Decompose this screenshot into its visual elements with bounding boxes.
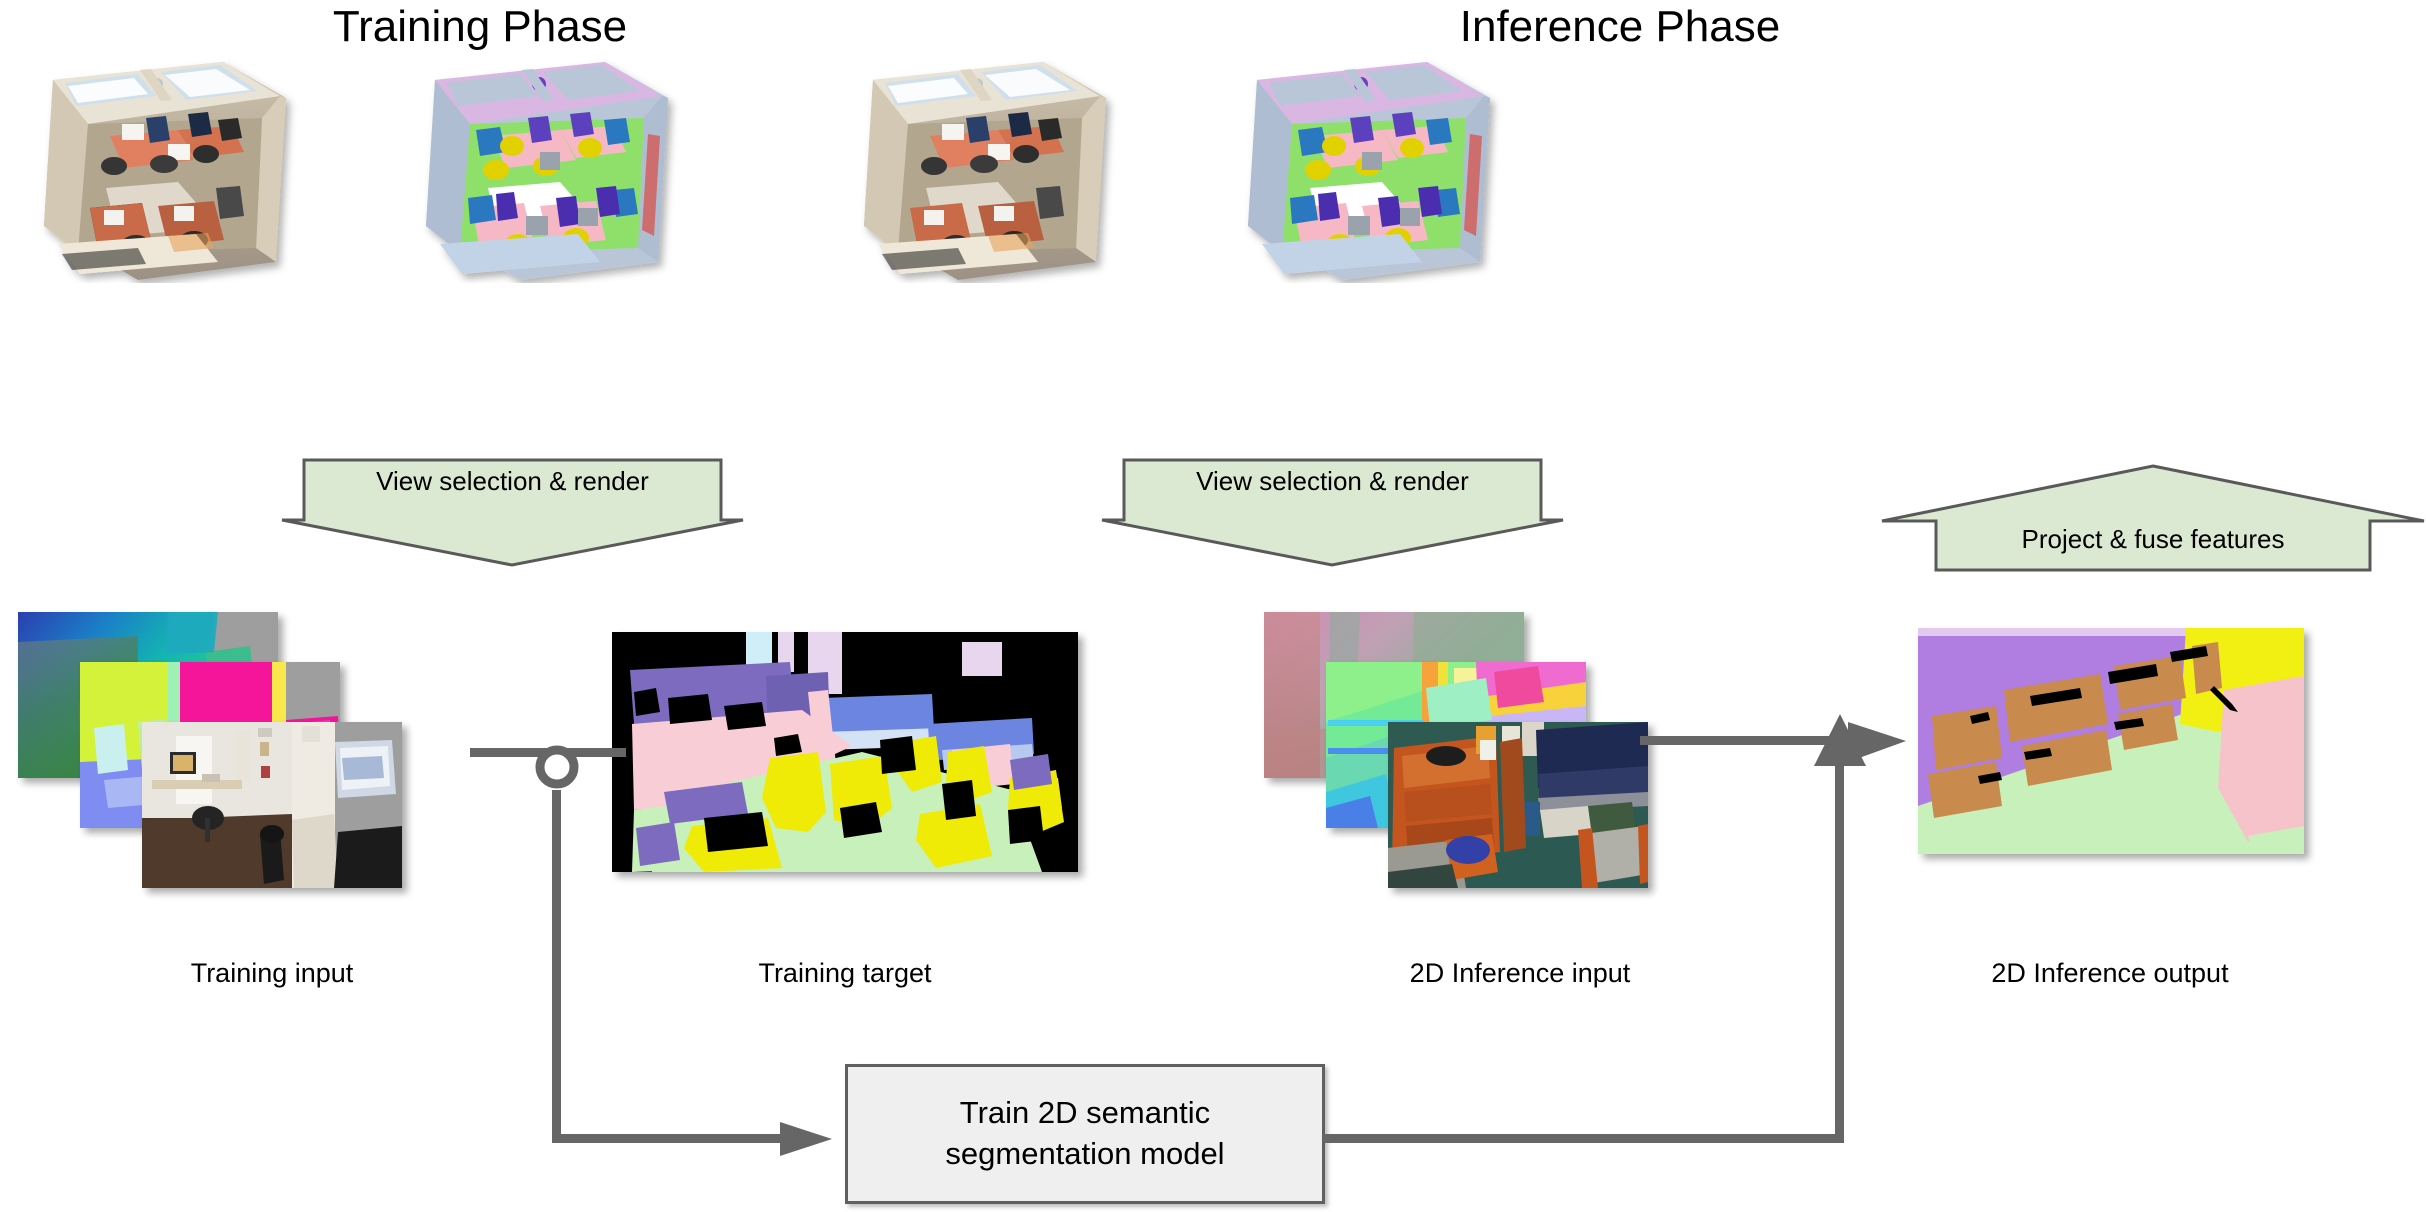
banner-project-fuse: Project & fuse features <box>1880 462 2426 574</box>
wire-inference-up <box>1835 760 1844 1138</box>
banner-infer-view-selection: View selection & render <box>1100 458 1565 568</box>
wire-model-to-inference <box>1323 1134 1844 1143</box>
banner-infer-view-label: View selection & render <box>1196 466 1469 496</box>
wire-to-model-box <box>552 1134 792 1143</box>
process-box-line2: segmentation model <box>945 1134 1224 1175</box>
mesh-inference-rgb <box>838 48 1128 283</box>
page-title-training: Training Phase <box>180 2 780 52</box>
inference-output-tile <box>1918 628 2304 854</box>
arrow-right-icon <box>780 1112 840 1166</box>
training-input-rgb-tile <box>142 722 402 888</box>
wire-junction-down <box>552 790 561 1143</box>
mesh-training-segmented <box>400 48 690 283</box>
process-box-train-model[interactable]: Train 2D semantic segmentation model <box>845 1064 1325 1204</box>
caption-training-target: Training target <box>685 958 1005 989</box>
process-box-line1: Train 2D semantic <box>960 1093 1210 1134</box>
training-target-tile <box>612 632 1078 872</box>
inference-input-rgb-tile <box>1388 722 1648 888</box>
caption-inference-output: 2D Inference output <box>1950 958 2270 989</box>
arrow-right-output-icon <box>1848 714 1914 770</box>
caption-inference-input: 2D Inference input <box>1360 958 1680 989</box>
page-title-inference: Inference Phase <box>1320 2 1920 52</box>
caption-training-input: Training input <box>112 958 432 989</box>
mesh-training-rgb <box>18 48 308 283</box>
banner-train-view-label: View selection & render <box>376 466 649 496</box>
banner-train-view-selection: View selection & render <box>280 458 745 568</box>
circle-junction-icon <box>530 740 584 794</box>
banner-project-fuse-label: Project & fuse features <box>2021 524 2284 554</box>
wire-inference-input-to-output <box>1640 736 1856 745</box>
mesh-inference-segmented <box>1222 48 1512 283</box>
